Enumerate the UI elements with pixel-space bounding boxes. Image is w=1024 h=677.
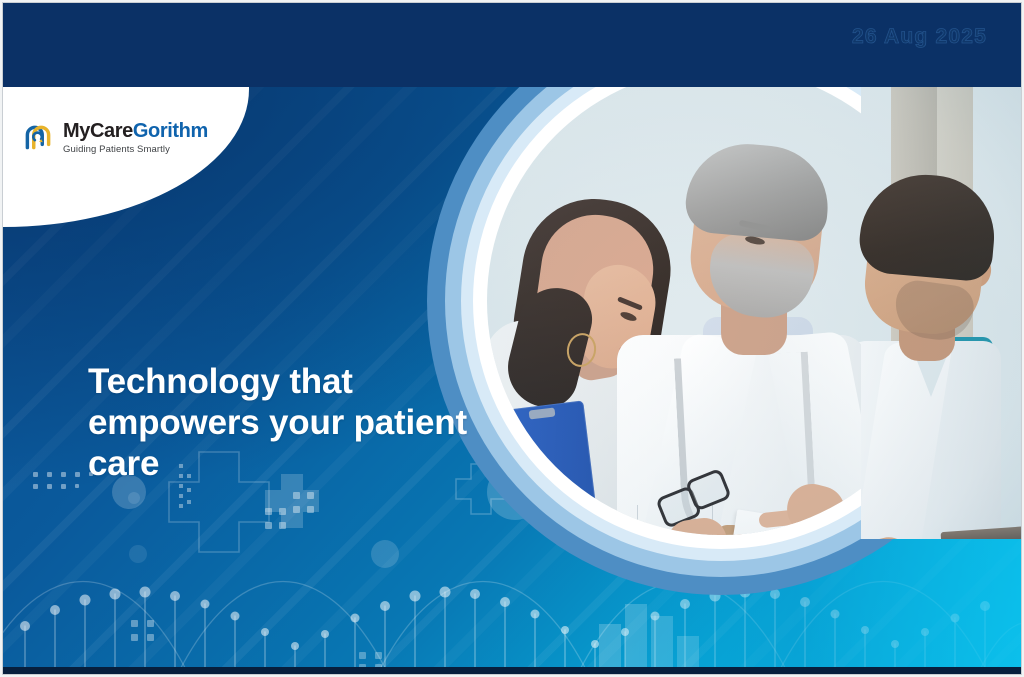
dot-grid-motif [131, 620, 154, 641]
logo-panel: MyCareGorithm Guiding Patients Smartly [3, 87, 249, 227]
bottom-edge-strip [3, 667, 1021, 674]
slide-canvas: 26 Aug 2025 [0, 0, 1024, 677]
hero-photo-right-bleed [861, 87, 1021, 539]
interlocking-arch-logo-icon [21, 121, 55, 155]
brand-logo[interactable]: MyCareGorithm Guiding Patients Smartly [21, 121, 208, 155]
brand-tagline: Guiding Patients Smartly [63, 145, 208, 155]
circle-motif [371, 540, 399, 568]
brand-name-primary: MyCare [63, 120, 133, 142]
hero-scene-bleed [861, 87, 1021, 539]
slide-date: 26 Aug 2025 [852, 25, 987, 49]
circle-motif [128, 492, 140, 504]
slide-frame: 26 Aug 2025 [3, 3, 1021, 674]
slide-body: Technology that empowers your patient ca… [3, 87, 1021, 674]
page-title: Technology that empowers your patient ca… [88, 362, 488, 485]
dot-grid-motif [33, 472, 93, 489]
brand-name-accent: Gorithm [133, 120, 208, 142]
hero-photo [421, 87, 1021, 674]
dot-grid-motif [265, 508, 286, 529]
top-navy-bar: 26 Aug 2025 [3, 3, 1021, 87]
circle-motif [129, 545, 147, 563]
dot-grid-motif [293, 492, 314, 513]
brand-wordmark: MyCareGorithm [63, 121, 208, 141]
